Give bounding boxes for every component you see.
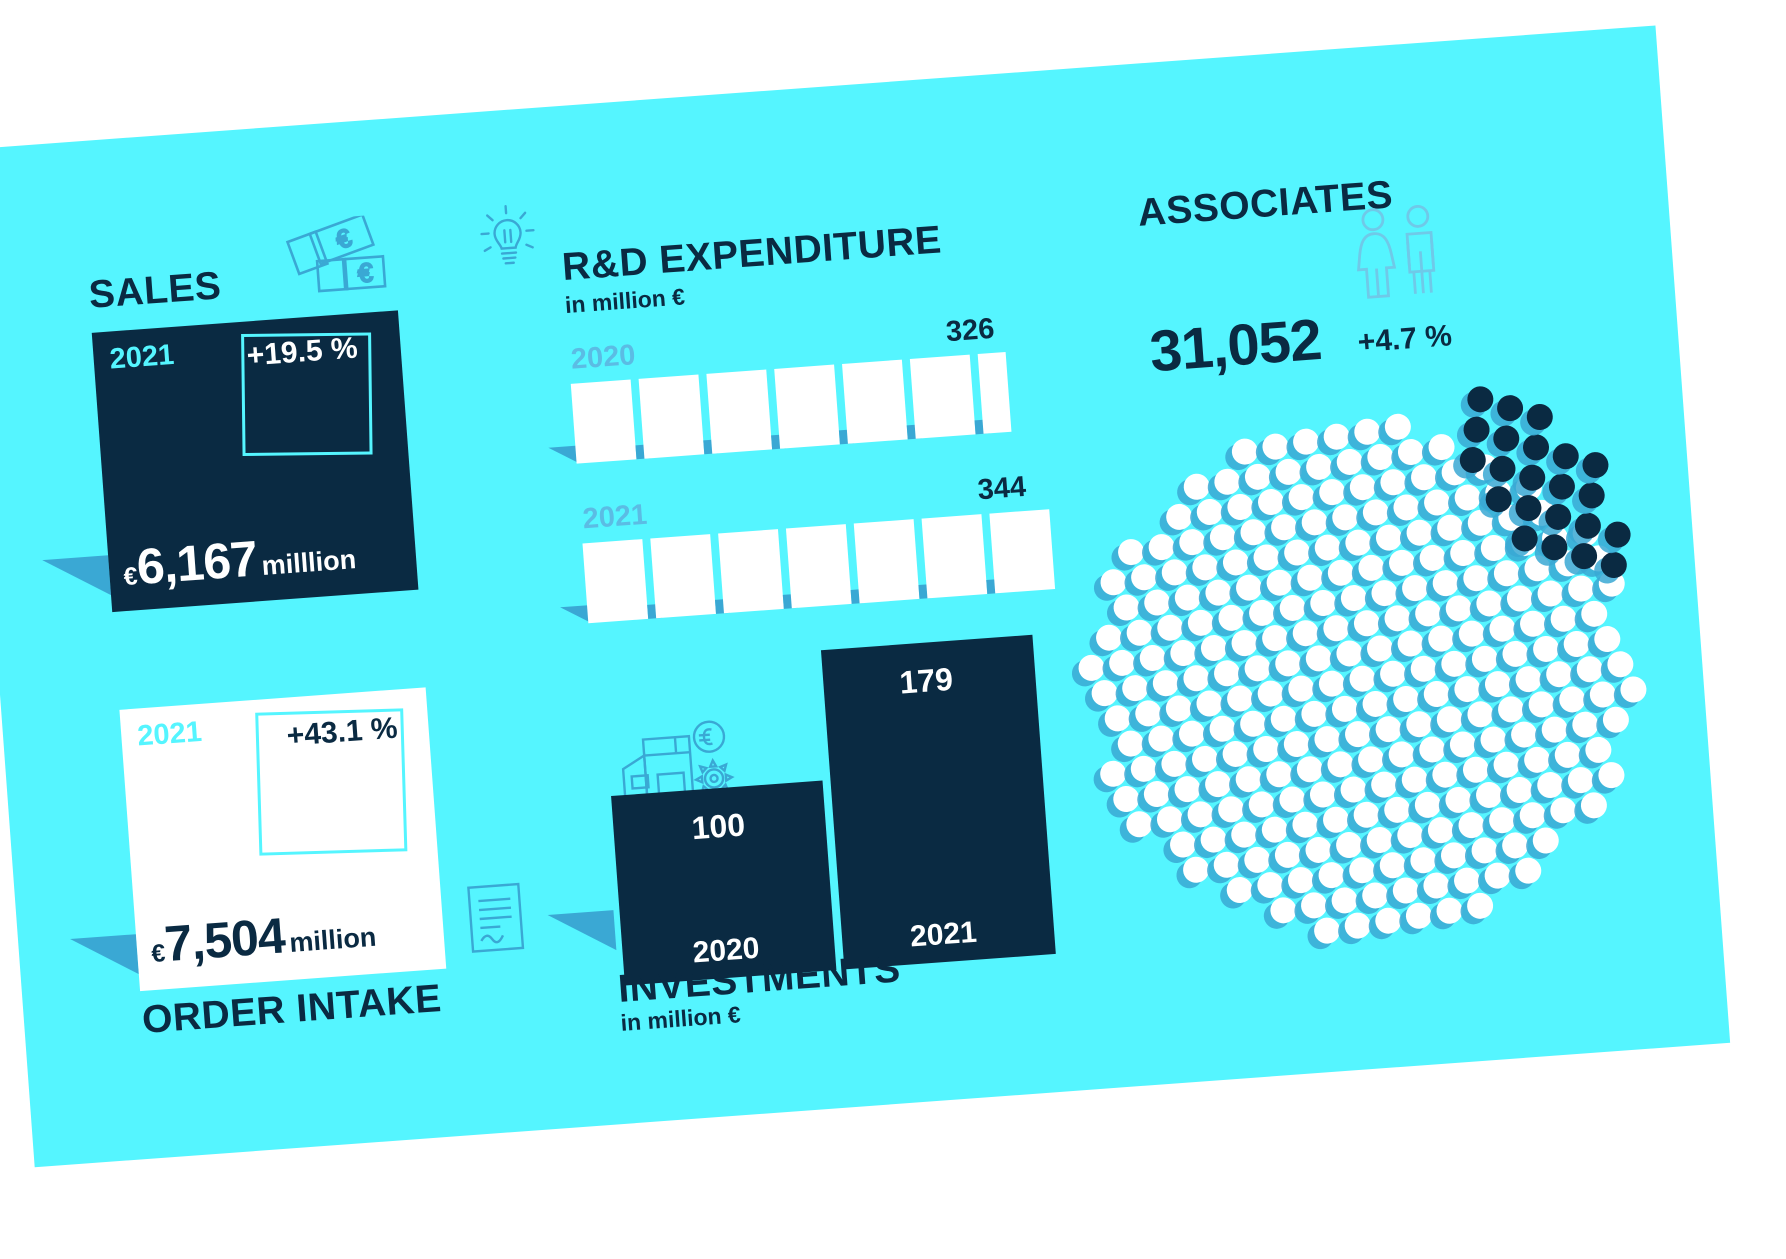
infographic-content: SALES € € 2021 +19.5 % €6,167 milllion xyxy=(0,25,1730,1167)
rd-subtitle: in million € xyxy=(564,285,685,317)
sales-pointer-triangle xyxy=(42,555,111,600)
associates-dot-chart xyxy=(1041,358,1680,960)
rd-bar-segment-partial xyxy=(978,352,1012,434)
rd-bar-segment xyxy=(774,365,840,449)
sales-heading: SALES xyxy=(88,266,223,315)
rd-year-label-2020: 2020 xyxy=(570,339,637,377)
rd-bar-segment xyxy=(786,524,852,608)
order-intake-amount-unit: million xyxy=(288,922,377,958)
svg-text:€: € xyxy=(357,257,374,288)
infographic-stage: SALES € € 2021 +19.5 % €6,167 milllion xyxy=(0,0,1786,1259)
rd-value-label-2020: 326 xyxy=(945,313,996,349)
rd-bar-segment xyxy=(854,519,920,603)
rd-bar-segment xyxy=(989,509,1055,593)
investments-value-2020: 100 xyxy=(690,806,746,847)
order-intake-heading: ORDER INTAKE xyxy=(141,979,443,1040)
investments-subtitle: in million € xyxy=(620,1003,741,1035)
signed-document-icon xyxy=(465,881,526,960)
investments-value-2021: 179 xyxy=(898,661,954,702)
svg-text:€: € xyxy=(332,224,355,255)
rd-bar-segment xyxy=(650,534,716,618)
investments-pointer-triangle xyxy=(548,910,617,955)
rd-heading: R&D EXPENDITURE xyxy=(561,220,943,287)
sales-year-label: 2021 xyxy=(109,339,176,377)
rd-value-label-2021: 344 xyxy=(976,471,1027,507)
rd-bar-segment xyxy=(582,539,648,623)
associates-count: 31,052 xyxy=(1148,306,1324,385)
rd-year-label-2021: 2021 xyxy=(582,499,649,537)
sales-value-card: 2021 +19.5 % €6,167 milllion xyxy=(92,310,419,612)
order-intake-amount-number: 7,504 xyxy=(163,907,287,972)
banknotes-euro-icon: € € xyxy=(284,214,390,304)
rd-bar-segment xyxy=(910,355,976,439)
sales-amount-unit: milllion xyxy=(261,544,357,581)
people-pair-icon xyxy=(1350,202,1449,309)
associates-percent-change: +4.7 % xyxy=(1357,319,1453,360)
order-intake-value-card: 2021 +43.1 % €7,504 million xyxy=(119,687,446,991)
lightbulb-icon xyxy=(473,200,542,281)
order-intake-amount: €7,504 million xyxy=(149,900,378,974)
rd-bar-row-2021: 2021 344 xyxy=(582,508,1067,623)
sales-amount-number: 6,167 xyxy=(135,530,259,595)
rd-bar-segment xyxy=(706,370,772,454)
rd-bar-segment xyxy=(571,380,637,464)
order-intake-pointer-triangle xyxy=(70,934,139,979)
rd-bar-segment xyxy=(718,529,784,613)
rd-bar-row-2020: 2020 326 xyxy=(571,349,1046,463)
rd-bar-segment xyxy=(922,514,988,598)
order-intake-year-label: 2021 xyxy=(136,716,203,754)
sales-amount: €6,167 milllion xyxy=(121,522,358,597)
investments-year-2021: 2021 xyxy=(909,916,978,955)
rd-bar-segment xyxy=(639,375,705,459)
rd-bar-segment xyxy=(842,360,908,444)
